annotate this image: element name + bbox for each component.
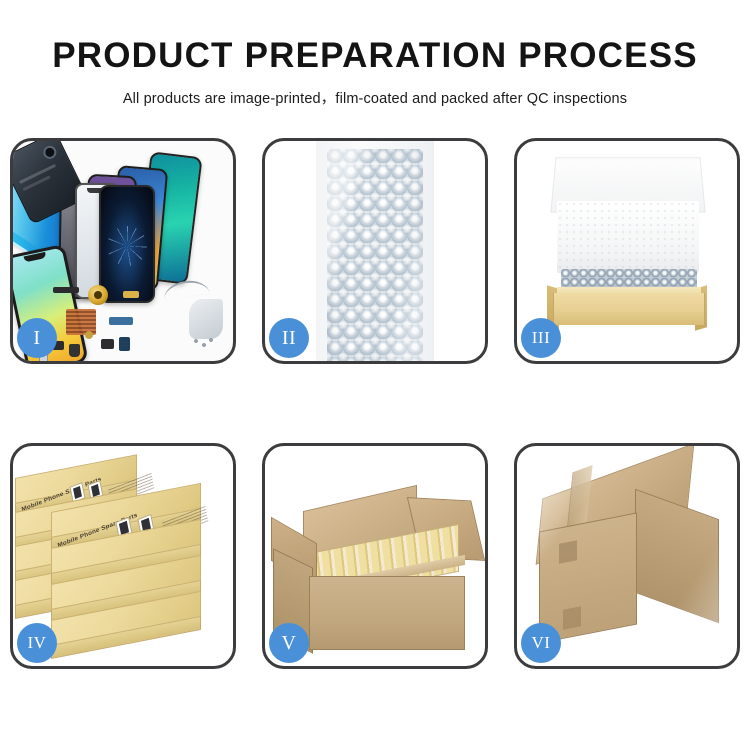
page-subtitle: All products are image-printed，film-coat… — [0, 87, 750, 108]
cracked-black-screen-phone — [99, 185, 155, 303]
carton-right-panel — [635, 489, 719, 624]
spare-part — [101, 339, 114, 349]
spare-part — [69, 344, 80, 357]
flex-cable-part — [109, 317, 133, 325]
repair-tool — [189, 299, 223, 339]
spare-part — [123, 291, 139, 298]
spare-part — [119, 337, 130, 351]
carton-handle-cut — [559, 540, 577, 563]
spare-part — [53, 287, 79, 293]
carton-front-panel — [309, 576, 465, 650]
spare-part — [85, 331, 93, 339]
step-badge-4: IV — [17, 623, 57, 663]
box-front-panel — [553, 293, 705, 325]
step-badge-5: V — [269, 623, 309, 663]
step-badge-1: I — [17, 318, 57, 358]
step-panel-6: VI — [514, 443, 740, 669]
screws-part — [193, 337, 215, 349]
step-panel-4: Mobile Phone Spare Parts — [10, 443, 236, 669]
foam-padding — [557, 201, 699, 273]
carton-handle-cut — [563, 606, 581, 629]
plastic-shine — [327, 149, 423, 361]
step-panel-1: I — [10, 138, 236, 364]
notch-icon — [24, 252, 47, 262]
step-panel-3: III — [514, 138, 740, 364]
speaker-coil-part — [88, 285, 108, 305]
product-preparation-infographic: PRODUCT PREPARATION PROCESS All products… — [0, 0, 750, 750]
carton-front-panel — [539, 512, 637, 643]
step-panel-5: V — [262, 443, 488, 669]
header: PRODUCT PREPARATION PROCESS All products… — [0, 0, 750, 108]
step-badge-3: III — [521, 318, 561, 358]
screen-crack-icon — [107, 226, 147, 266]
camera-icon — [41, 144, 58, 161]
step-badge-2: II — [269, 318, 309, 358]
step-panel-2: II — [262, 138, 488, 364]
steps-grid: I II III — [10, 138, 742, 674]
page-title: PRODUCT PREPARATION PROCESS — [0, 36, 750, 76]
step-badge-6: VI — [521, 623, 561, 663]
